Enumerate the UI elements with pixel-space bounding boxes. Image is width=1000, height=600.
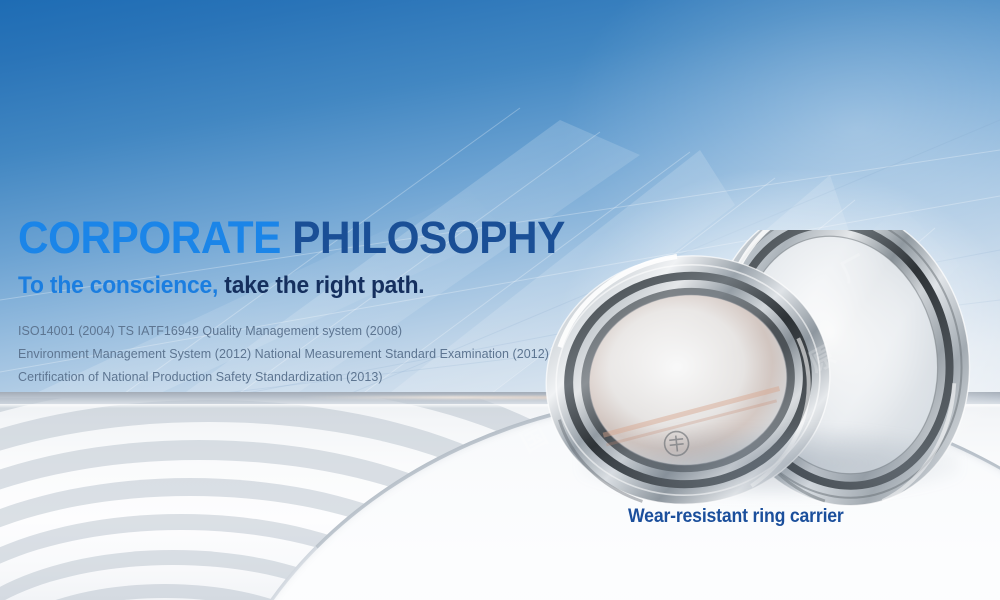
banner-copy-block: CORPORATE PHILOSOPHY To the conscience, … <box>18 212 638 389</box>
subtitle-primary: To the conscience, <box>18 272 218 299</box>
product-caption: Wear-resistant ring carrier <box>628 506 844 528</box>
certification-list: ISO14001 (2004) TS IATF16949 Quality Man… <box>18 320 638 389</box>
headline-secondary: PHILOSOPHY <box>292 212 565 263</box>
headline-primary: CORPORATE <box>18 212 281 263</box>
certification-line: Certification of National Production Saf… <box>18 366 638 389</box>
page-title: CORPORATE PHILOSOPHY <box>18 212 601 264</box>
ring-contact-shadow <box>580 428 960 498</box>
corporate-philosophy-banner: 厂 原 国 CORPORATE PHILOSOPHY To the consci… <box>0 0 1000 600</box>
subtitle-secondary: take the right path. <box>224 272 424 299</box>
certification-line: ISO14001 (2004) TS IATF16949 Quality Man… <box>18 320 638 343</box>
page-subtitle: To the conscience, take the right path. <box>18 271 607 301</box>
certification-line: Environment Management System (2012) Nat… <box>18 343 638 366</box>
